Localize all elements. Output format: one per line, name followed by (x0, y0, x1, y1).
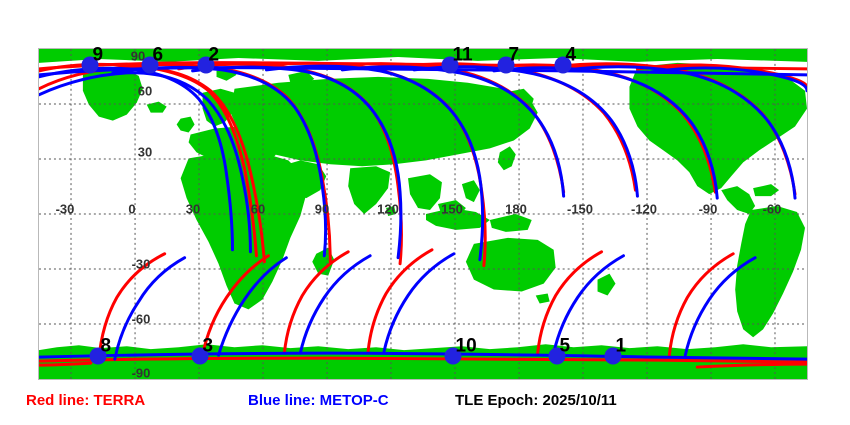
legend-tle-epoch: TLE Epoch: 2025/10/11 (455, 392, 617, 409)
legend-metopc-label: Blue line: METOP-C (248, 392, 389, 409)
legend-terra-label: Red line: TERRA (26, 392, 145, 409)
world-map-plot: 90 60 30 -30 -60 -90 -30 0 30 60 90 120 … (38, 48, 808, 380)
map-canvas (39, 49, 807, 379)
ground-track-map-app: 90 60 30 -30 -60 -90 -30 0 30 60 90 120 … (0, 0, 850, 425)
map-legend: Red line: TERRA Blue line: METOP-C TLE E… (0, 392, 850, 420)
